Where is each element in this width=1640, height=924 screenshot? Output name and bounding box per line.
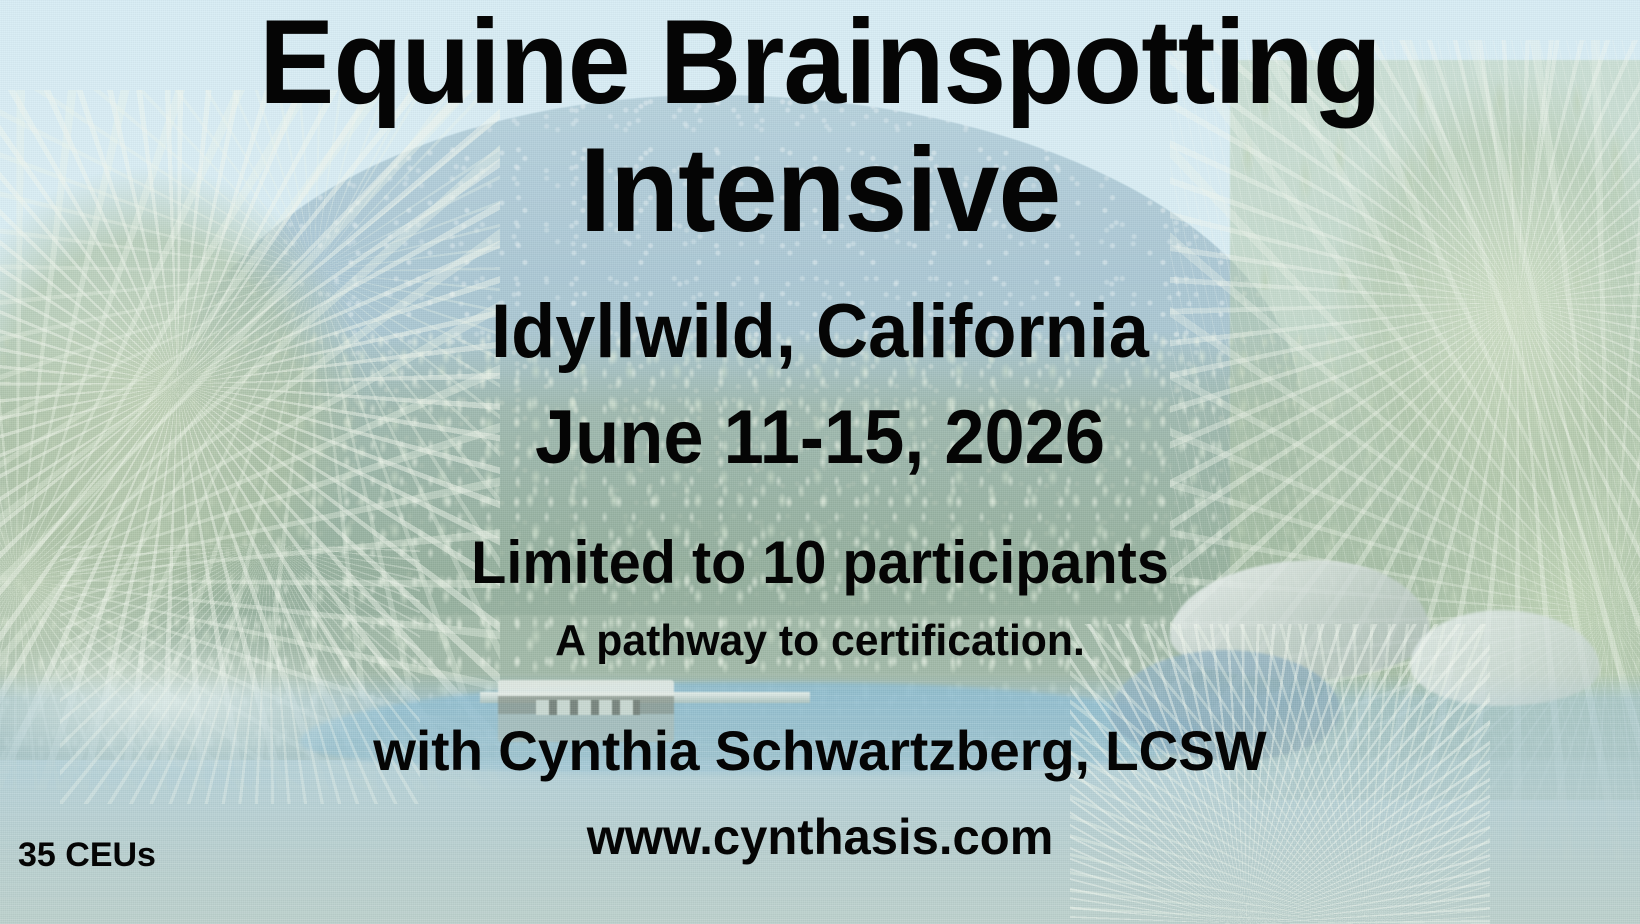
ceu-badge: 35 CEUs [18,836,156,875]
flyer-text-layer: Equine Brainspotting Intensive Idyllwild… [0,0,1640,924]
presenter-name: with Cynthia Schwartzberg, LCSW [16,718,1623,783]
event-dates: June 11-15, 2026 [41,394,1599,481]
title-line-1: Equine Brainspotting [259,0,1381,129]
certification-tagline: A pathway to certification. [25,616,1616,666]
website-url[interactable]: www.cynthasis.com [16,808,1623,866]
event-location: Idyllwild, California [41,288,1599,375]
event-flyer: Equine Brainspotting Intensive Idyllwild… [0,0,1640,924]
participant-limit: Limited to 10 participants [33,528,1607,597]
flyer-title: Equine Brainspotting Intensive [49,0,1591,255]
title-line-2: Intensive [49,126,1591,254]
